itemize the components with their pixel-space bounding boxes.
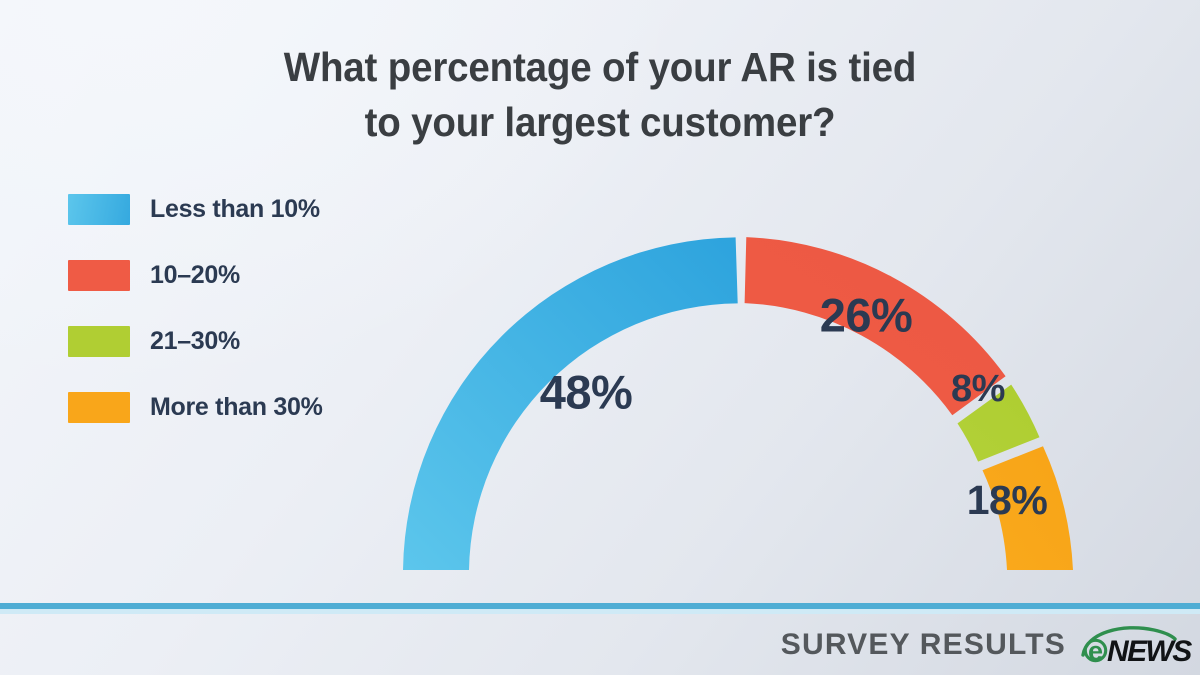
legend-swatch-orange-icon xyxy=(68,392,130,423)
legend-label-more-than-30: More than 30% xyxy=(150,393,323,422)
legend-item-10-20: 10–20% xyxy=(68,258,398,292)
slice-value-21-30: 8% xyxy=(951,368,1005,410)
page-title-line-1: What percentage of your AR is tied xyxy=(36,40,1164,95)
donut-chart-svg: 48% 26% 8% 18% xyxy=(378,180,1138,580)
logo-e-letter: e xyxy=(1088,636,1103,666)
enews-logo: e NEWS xyxy=(1080,624,1178,666)
legend-swatch-blue-icon xyxy=(68,194,130,225)
page-title: What percentage of your AR is tied to yo… xyxy=(36,40,1164,149)
legend-item-less-than-10: Less than 10% xyxy=(68,192,398,226)
legend-item-more-than-30: More than 30% xyxy=(68,390,398,424)
slice-value-less-than-10: 48% xyxy=(540,366,633,419)
footer-bar: SURVEY RESULTS e NEWS xyxy=(0,614,1200,675)
legend-swatch-red-icon xyxy=(68,260,130,291)
page-title-line-2: to your largest customer? xyxy=(36,95,1164,150)
semicircle-donut-chart: 48% 26% 8% 18% xyxy=(378,180,1138,580)
legend-label-21-30: 21–30% xyxy=(150,327,240,356)
logo-news-text: NEWS xyxy=(1107,635,1192,668)
legend-label-less-than-10: Less than 10% xyxy=(150,195,320,224)
slice-value-more-than-30: 18% xyxy=(967,477,1048,523)
legend-label-10-20: 10–20% xyxy=(150,261,240,290)
legend-item-21-30: 21–30% xyxy=(68,324,398,358)
chart-legend: Less than 10% 10–20% 21–30% More than 30… xyxy=(68,192,398,424)
legend-swatch-green-icon xyxy=(68,326,130,357)
footer-label: SURVEY RESULTS xyxy=(781,628,1066,662)
slice-value-10-20: 26% xyxy=(820,289,913,342)
infographic-canvas: What percentage of your AR is tied to yo… xyxy=(0,0,1200,675)
